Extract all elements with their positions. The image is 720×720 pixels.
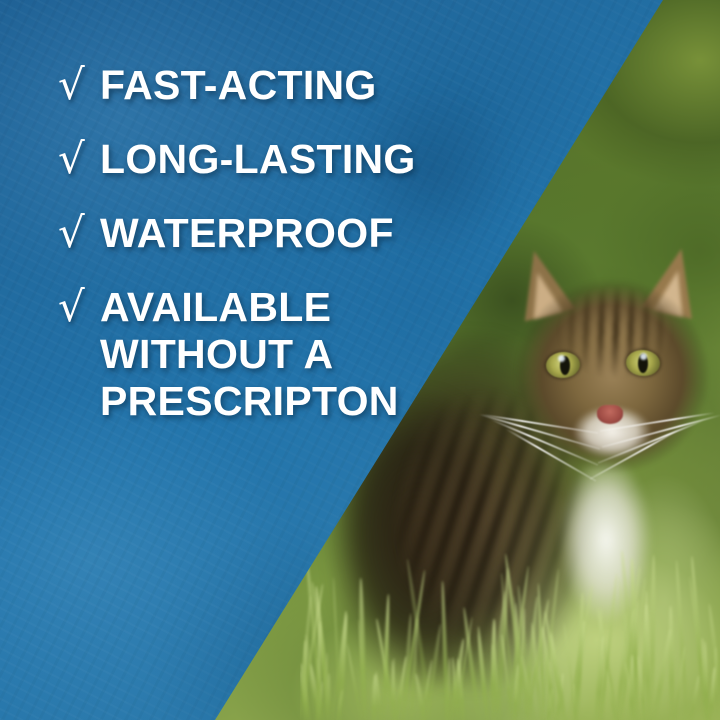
checkmark-icon: √ [58, 135, 100, 183]
promo-graphic-canvas: √ FAST-ACTING √ LONG-LASTING √ WATERPROO… [0, 0, 720, 720]
benefits-list: √ FAST-ACTING √ LONG-LASTING √ WATERPROO… [58, 62, 458, 425]
cat-whiskers [470, 390, 720, 540]
benefit-label-fast-acting: FAST-ACTING [100, 62, 377, 109]
benefit-item-fast-acting: √ FAST-ACTING [58, 62, 458, 110]
checkmark-icon: √ [58, 283, 100, 331]
benefit-item-long-lasting: √ LONG-LASTING [58, 136, 458, 184]
benefit-item-waterproof: √ WATERPROOF [58, 210, 458, 258]
benefit-label-waterproof: WATERPROOF [100, 210, 394, 257]
checkmark-icon: √ [58, 61, 100, 109]
cat-right-eye-glint [640, 353, 647, 360]
cat-left-eye-glint [558, 355, 565, 362]
benefit-item-available-without-prescription: √ AVAILABLE WITHOUT A PRESCRIPTON [58, 284, 458, 425]
checkmark-icon: √ [58, 209, 100, 257]
benefit-label-long-lasting: LONG-LASTING [100, 136, 416, 183]
benefit-label-available-without-prescription: AVAILABLE WITHOUT A PRESCRIPTON [100, 284, 399, 425]
foreground-grass [300, 520, 720, 720]
